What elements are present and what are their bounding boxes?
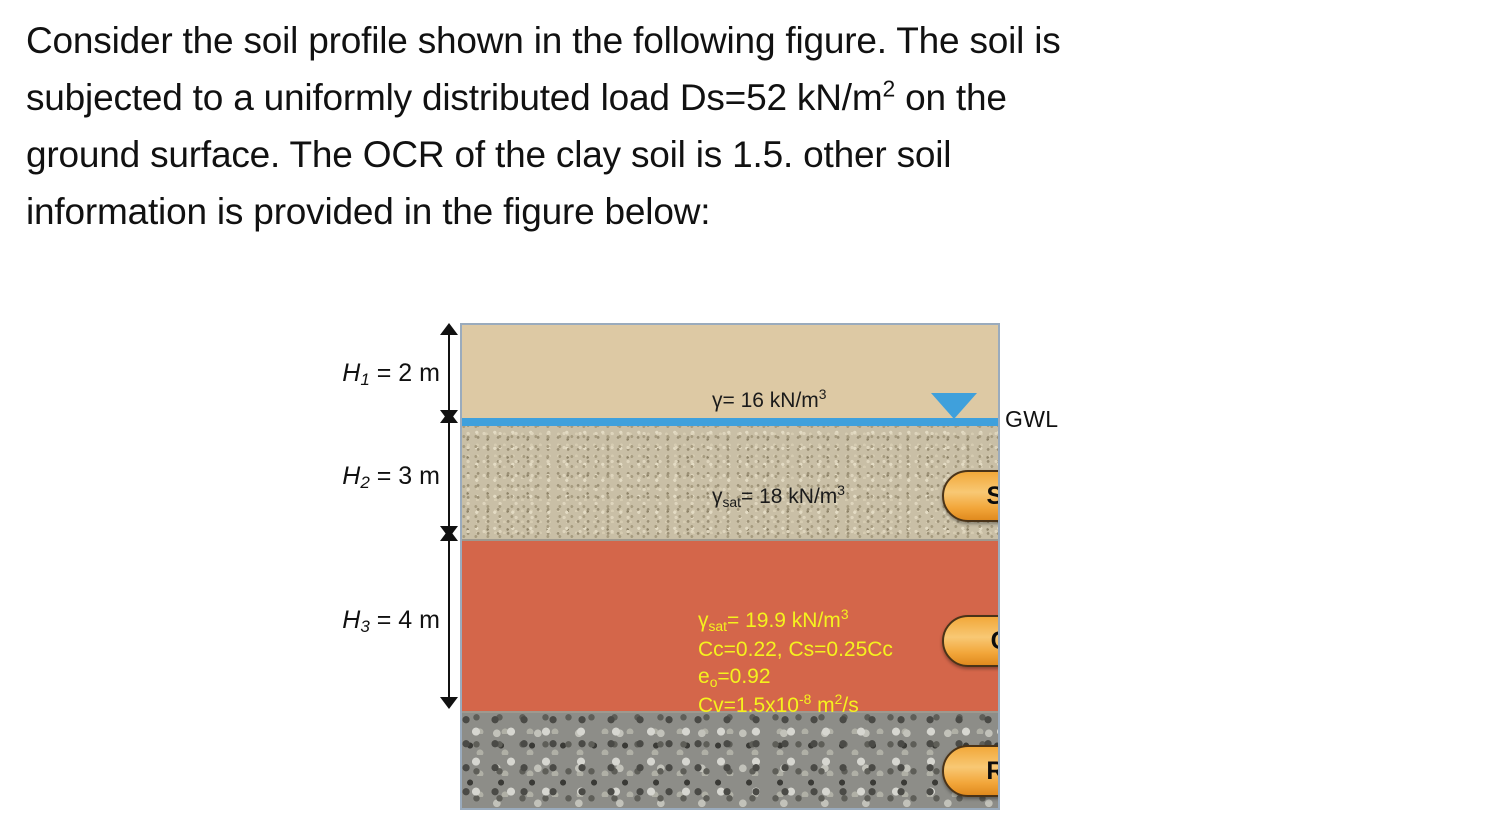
clay-eo-rest: =0.92	[717, 665, 770, 688]
gamma-sup-sat: 3	[837, 482, 845, 498]
dimension-arrow-h1	[448, 334, 450, 411]
gamma-rest-sat: = 18 kN/m	[741, 485, 837, 508]
question-prompt: Consider the soil profile shown in the f…	[26, 12, 1446, 240]
property-label-clay: γsat= 19.9 kN/m3Cc=0.22, Cs=0.25Cceo=0.9…	[698, 607, 893, 719]
clay-cv-rest: Cv=1.5x10	[698, 694, 799, 717]
gamma-sup-dry: 3	[819, 386, 827, 402]
dimension-label-h1-subscript: 1	[360, 370, 369, 389]
clay-cv-sup: -8	[799, 691, 811, 707]
question-line-1: Consider the soil profile shown in the f…	[26, 20, 1061, 61]
groundwater-level-label: GWL	[1005, 406, 1058, 433]
layer-badge-clay[interactable]: Clay	[942, 615, 1000, 667]
layer-sand-saturated	[462, 424, 998, 539]
clay-cv-rest3: /s	[842, 694, 858, 717]
question-line-2-pre: subjected to a uniformly distributed loa…	[26, 77, 882, 118]
clay-void-ratio-line: eo=0.92	[698, 663, 893, 692]
clay-gamma-subscript: sat	[709, 618, 728, 634]
clay-gamma-sup: 3	[841, 606, 849, 622]
clay-eo-subscript: o	[710, 674, 718, 690]
question-line-2-superscript: 2	[882, 76, 895, 102]
dimension-label-h3: H3 = 4 m	[330, 606, 440, 635]
clay-gamma-rest: = 19.9 kN/m	[727, 609, 841, 632]
dimension-label-h3-value: = 4 m	[377, 606, 440, 634]
layer-rock	[462, 713, 998, 810]
water-table-triangle-icon	[931, 393, 977, 419]
clay-cv-rest2: m	[811, 694, 834, 717]
dimension-label-h1-value: = 2 m	[377, 359, 440, 387]
layer-badge-sand[interactable]: Sand	[942, 470, 1000, 522]
dimension-label-h2-subscript: 2	[360, 473, 369, 492]
dimension-label-h1: H1 = 2 m	[330, 359, 440, 388]
soil-profile-figure: H1 = 2 m H2 = 3 m H3 = 4 m γ= 16 kN/m3 γ…	[330, 312, 1090, 812]
dimension-label-h2-value: = 3 m	[377, 462, 440, 490]
gamma-rest-dry: = 16 kN/m	[723, 389, 819, 412]
groundwater-line	[462, 418, 998, 426]
property-label-sand-dry: γ= 16 kN/m3	[712, 387, 827, 414]
question-line-3: ground surface. The OCR of the clay soil…	[26, 134, 951, 175]
clay-gamma-line: γsat= 19.9 kN/m3	[698, 607, 893, 636]
dimension-arrow-h3	[448, 540, 450, 698]
dimension-arrow-h2	[448, 422, 450, 527]
clay-eo-symbol: e	[698, 665, 710, 688]
gamma-symbol-sat: γ	[712, 485, 723, 508]
question-line-2-post: on the	[895, 77, 1007, 118]
dimension-label-h2: H2 = 3 m	[330, 462, 440, 491]
clay-cc-cs-line: Cc=0.22, Cs=0.25Cc	[698, 636, 893, 663]
layer-badge-rock[interactable]: Rock	[942, 745, 1000, 797]
clay-gamma-symbol: γ	[698, 609, 709, 632]
layer-separator-sand-clay	[462, 539, 998, 541]
property-label-sand-saturated: γsat= 18 kN/m3	[712, 483, 845, 512]
dimension-label-h3-subscript: 3	[360, 617, 369, 636]
gamma-symbol-dry: γ	[712, 389, 723, 412]
soil-column: γ= 16 kN/m3 γsat= 18 kN/m3 γsat= 19.9 kN…	[460, 323, 1000, 810]
gamma-subscript-sat: sat	[723, 494, 742, 510]
clay-cv-line: Cv=1.5x10-8 m2/s	[698, 692, 893, 719]
question-line-4: information is provided in the figure be…	[26, 191, 710, 232]
